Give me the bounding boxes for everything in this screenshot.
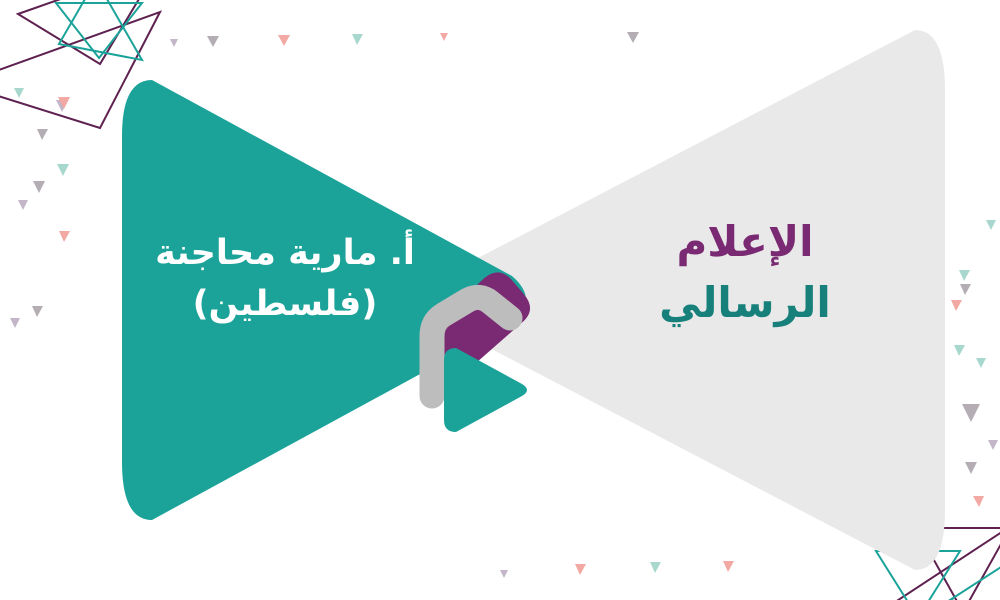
confetti-triangle-up xyxy=(33,181,45,193)
confetti-triangle-layer xyxy=(0,0,1000,600)
confetti-triangle-down xyxy=(954,345,965,356)
confetti-triangle-up xyxy=(959,270,970,281)
confetti-triangle-up xyxy=(10,318,20,328)
confetti-triangle-down xyxy=(988,440,998,450)
confetti-triangle-down xyxy=(59,231,70,242)
confetti-triangle-down xyxy=(440,33,448,41)
confetti-triangle-down xyxy=(627,32,639,43)
confetti-triangle-up xyxy=(723,561,734,572)
confetti-triangle-down xyxy=(960,284,971,295)
confetti-triangle-up xyxy=(18,200,28,210)
confetti-triangle-up xyxy=(986,220,996,230)
confetti-triangle-up xyxy=(575,564,586,575)
confetti-triangle-up xyxy=(650,562,661,573)
confetti-triangle-down xyxy=(962,404,980,422)
slide-canvas: أ. مارية محاجنة (فلسطين) الإعلام الرسالي xyxy=(0,0,1000,600)
confetti-triangle-up xyxy=(500,570,508,578)
confetti-triangle-up xyxy=(973,496,984,507)
confetti-triangle-down xyxy=(170,39,178,47)
confetti-triangle-up xyxy=(37,129,48,140)
confetti-triangle-down xyxy=(278,35,290,46)
confetti-triangle-down xyxy=(965,462,977,474)
confetti-triangle-up xyxy=(57,164,69,176)
confetti-triangle-up xyxy=(32,306,43,317)
confetti-triangle-down xyxy=(352,34,363,45)
confetti-triangle-up xyxy=(14,88,24,98)
confetti-triangle-down xyxy=(207,36,219,47)
confetti-triangle-up xyxy=(976,358,986,368)
confetti-triangle-up xyxy=(951,300,962,311)
